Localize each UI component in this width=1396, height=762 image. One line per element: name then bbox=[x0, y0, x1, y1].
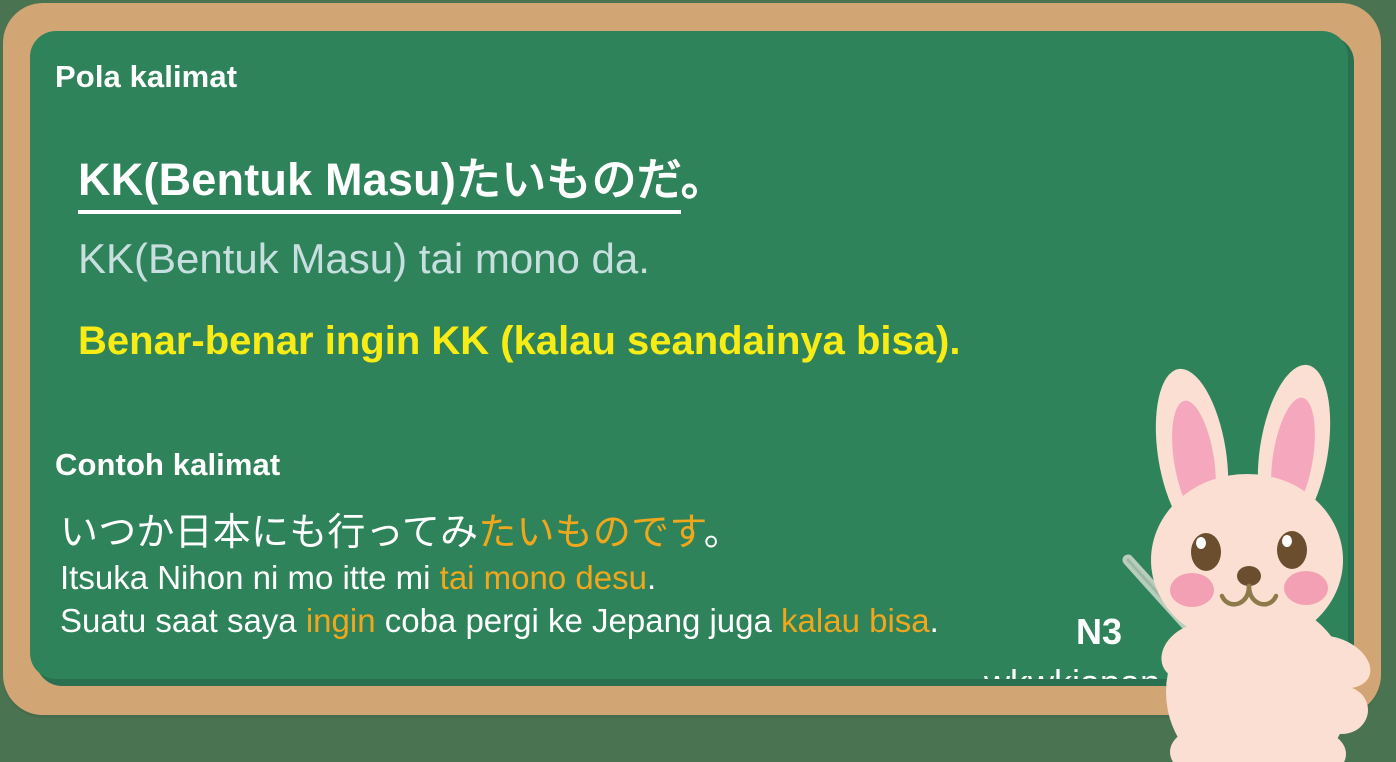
eye-right-icon bbox=[1277, 531, 1307, 569]
text-run-2: coba pergi ke Jepang juga bbox=[376, 602, 781, 639]
pattern-romaji: KK(Bentuk Masu) tai mono da. bbox=[78, 235, 650, 283]
text-run-1: たいものです bbox=[478, 512, 703, 554]
example-section-label: Contoh kalimat bbox=[55, 447, 280, 483]
blush-right-icon bbox=[1284, 571, 1328, 605]
text-run-2: 。 bbox=[704, 512, 742, 554]
pattern-japanese-tail: 。 bbox=[681, 154, 726, 205]
example-translation: Suatu saat saya ingin coba pergi ke Jepa… bbox=[60, 602, 939, 640]
pattern-meaning: Benar-benar ingin KK (kalau seandainya b… bbox=[78, 319, 960, 364]
example-japanese: いつか日本にも行ってみたいものです。 bbox=[60, 501, 742, 556]
text-run-2: . bbox=[647, 559, 656, 596]
text-run-4: . bbox=[930, 602, 939, 639]
text-run-1: ingin bbox=[306, 602, 376, 639]
text-run-0: Suatu saat saya bbox=[60, 602, 306, 639]
nose-icon bbox=[1237, 566, 1261, 586]
text-run-0: いつか日本にも行ってみ bbox=[60, 512, 478, 554]
text-run-1: tai mono desu bbox=[440, 559, 647, 596]
example-romaji: Itsuka Nihon ni mo itte mi tai mono desu… bbox=[60, 559, 656, 597]
lesson-card: Pola kalimat KK(Bentuk Masu)たいものだ。 KK(Be… bbox=[0, 0, 1396, 752]
text-run-0: Itsuka Nihon ni mo itte mi bbox=[60, 559, 440, 596]
eye-left-icon bbox=[1191, 533, 1221, 571]
pattern-japanese-underlined: KK(Bentuk Masu)たいものだ bbox=[78, 154, 681, 214]
pattern-section-label: Pola kalimat bbox=[55, 59, 237, 95]
blush-left-icon bbox=[1170, 573, 1214, 607]
pattern-japanese: KK(Bentuk Masu)たいものだ。 bbox=[78, 143, 726, 208]
text-run-3: kalau bisa bbox=[781, 602, 930, 639]
rabbit-mascot-icon bbox=[1110, 362, 1396, 762]
